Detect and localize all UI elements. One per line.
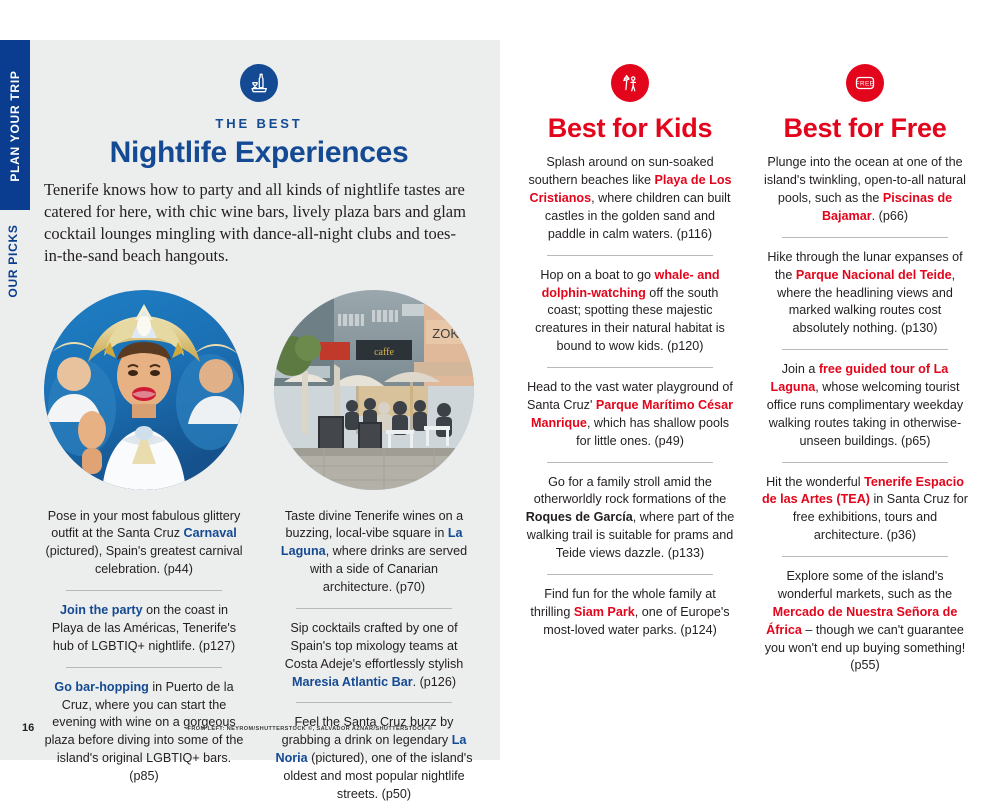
tip-entry: Plunge into the ocean at one of the isla… (760, 154, 970, 226)
photo-row: caffe ZOKE (44, 290, 474, 490)
tip-text: Taste divine Tenerife wines on a buzzing… (285, 509, 463, 541)
magazine-spread: PLAN YOUR TRIP OUR PICKS THE BEST (0, 0, 1000, 800)
tip-text: Go for a family stroll amid the otherwor… (534, 475, 727, 507)
kids-entry-list: Splash around on sun-soaked southern bea… (525, 154, 735, 639)
tip-text: Hop on a boat to go (540, 268, 654, 282)
tip-text: (pictured), Spain's greatest carnival ce… (46, 544, 243, 576)
tip-highlight[interactable]: Maresia Atlantic Bar (292, 675, 413, 689)
tip-text: Hit the wonderful (766, 475, 864, 489)
column-best-for-kids: Best for Kids Splash around on sun-soake… (525, 40, 735, 675)
tip-entry: Find fun for the whole family at thrilli… (525, 574, 735, 640)
tip-highlight[interactable]: Parque Nacional del Teide (796, 268, 952, 282)
svg-text:FREE: FREE (856, 80, 875, 87)
tip-text: . (p66) (872, 209, 908, 223)
tip-entry: Hike through the lunar expanses of the P… (760, 237, 970, 338)
tip-text: . (p126) (413, 675, 456, 689)
tip-entry: Hop on a boat to go whale- and dolphin-w… (525, 255, 735, 356)
tip-text: (pictured), one of the island's oldest a… (283, 751, 472, 801)
street-cafe-photo: caffe ZOKE (274, 290, 474, 490)
tip-entry: Go for a family stroll amid the otherwor… (525, 462, 735, 563)
page-title: Nightlife Experiences (44, 137, 474, 169)
intro-paragraph: Tenerife knows how to party and all kind… (44, 179, 474, 268)
carnival-dancer-photo (44, 290, 244, 490)
tip-text: , which has shallow pools for little one… (576, 416, 729, 448)
tip-highlight[interactable]: Siam Park (574, 605, 635, 619)
page-number-left: 16 (22, 722, 34, 734)
tip-highlight[interactable]: Go bar-hopping (54, 680, 148, 694)
kicker-label: THE BEST (44, 116, 474, 131)
sidebar-tab-left-label: PLAN YOUR TRIP (8, 51, 22, 201)
wine-bottle-cooler-icon (240, 64, 278, 102)
free-stamp-icon: FREE (846, 64, 884, 102)
column-best-for-free: FREE Best for Free Plunge into the ocean… (760, 40, 970, 675)
tip-entry: Join the party on the coast in Playa de … (44, 590, 244, 656)
caption-column-two: Taste divine Tenerife wines on a buzzing… (274, 508, 474, 804)
tip-entry: Explore some of the island's wonderful m… (760, 556, 970, 675)
tip-highlight[interactable]: Carnaval (184, 526, 237, 540)
free-entry-list: Plunge into the ocean at one of the isla… (760, 154, 970, 675)
tip-entry: Splash around on sun-soaked southern bea… (525, 154, 735, 243)
sidebar-tab-left-secondary: OUR PICKS (6, 196, 20, 326)
tip-entry: Head to the vast water playground of San… (525, 367, 735, 451)
column-title-free: Best for Free (760, 114, 970, 142)
svg-text:ZOKE: ZOKE (432, 326, 468, 341)
caption-row: Pose in your most fabulous glittery outf… (44, 508, 474, 804)
tip-highlight[interactable]: Join the party (60, 603, 143, 617)
right-page-content: Best for Kids Splash around on sun-soake… (525, 40, 970, 675)
photo-credit: FROM LEFT: NEYROM/SHUTTERSTOCK ©, SALVAD… (140, 726, 480, 732)
tip-entry: Feel the Santa Cruz buzz by grabbing a d… (274, 702, 474, 803)
column-title-kids: Best for Kids (525, 114, 735, 142)
tip-text: Explore some of the island's wonderful m… (778, 569, 952, 601)
child-with-kite-icon (611, 64, 649, 102)
tip-highlight[interactable]: Roques de García (526, 510, 633, 524)
tip-text: Sip cocktails crafted by one of Spain's … (285, 621, 464, 671)
tip-entry: Taste divine Tenerife wines on a buzzing… (274, 508, 474, 597)
tip-entry: Join a free guided tour of La Laguna, wh… (760, 349, 970, 450)
caption-column-one: Pose in your most fabulous glittery outf… (44, 508, 244, 804)
page-area: PLAN YOUR TRIP OUR PICKS THE BEST (0, 40, 1000, 760)
svg-text:caffe: caffe (374, 347, 394, 358)
tip-entry: Sip cocktails crafted by one of Spain's … (274, 608, 474, 692)
tip-entry: Hit the wonderful Tenerife Espacio de la… (760, 462, 970, 546)
left-page: PLAN YOUR TRIP OUR PICKS THE BEST (0, 40, 500, 760)
tip-text: Join a (782, 362, 819, 376)
tip-entry: Pose in your most fabulous glittery outf… (44, 508, 244, 580)
left-page-content: THE BEST Nightlife Experiences Tenerife … (44, 40, 474, 804)
tip-text: , where drinks are served with a side of… (310, 544, 467, 594)
